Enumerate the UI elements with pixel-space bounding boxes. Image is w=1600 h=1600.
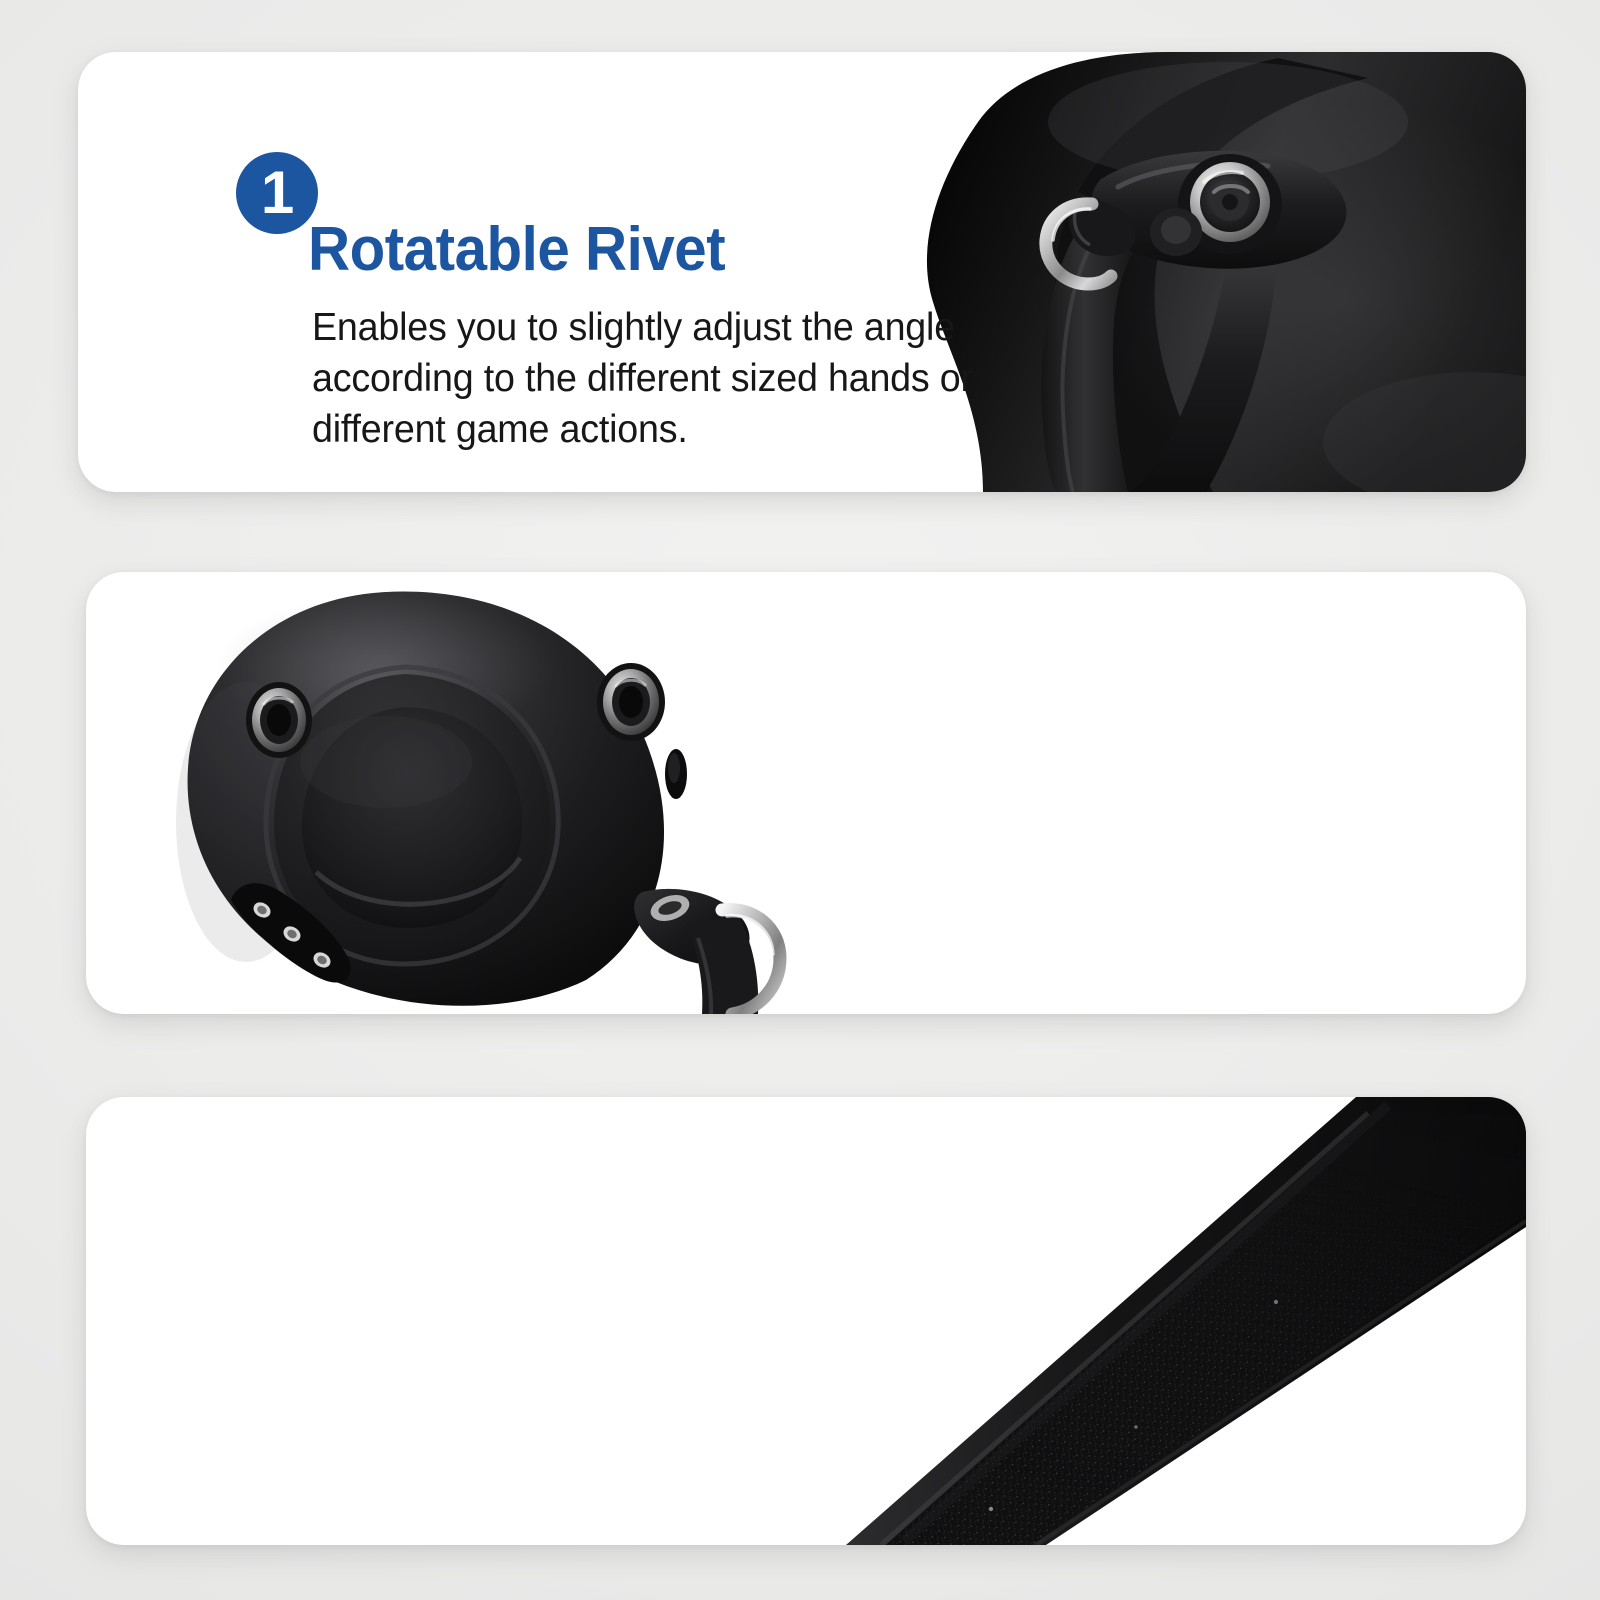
infographic-page: 1 Rotatable Rivet Enables you to slightl… — [0, 0, 1600, 1600]
feature-1-text: 1 Rotatable Rivet Enables you to slightl… — [228, 152, 988, 455]
feature-1-description: Enables you to slightly adjust the angle… — [312, 303, 1026, 455]
velcro-strap-product-image — [86, 1097, 1526, 1545]
feature-card-1: 1 Rotatable Rivet Enables you to slightl… — [78, 52, 1526, 492]
feature-card-3: 3 Velcro Strap Super stick and Not easy … — [86, 1097, 1526, 1545]
precise-hole-position-product-image — [86, 572, 1526, 1014]
feature-card-2: 2 Precise Hole Position The protective c… — [86, 572, 1526, 1014]
feature-1-title: Rotatable Rivet — [308, 218, 947, 281]
feature-1-number-badge: 1 — [236, 152, 318, 234]
